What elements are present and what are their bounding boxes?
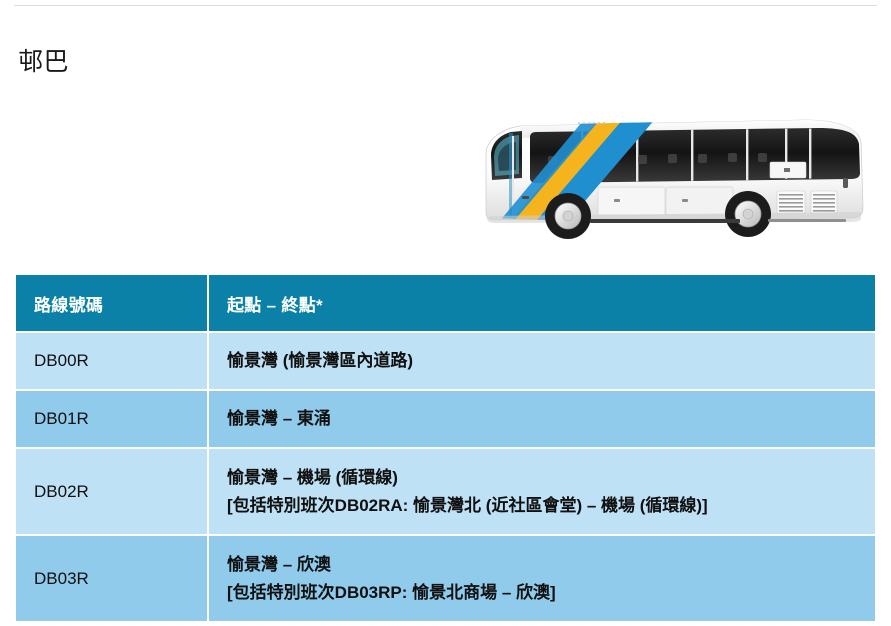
bus-illustration [478, 100, 873, 255]
destination-note-line: [包括特別班次DB02RA: 愉景灣北 (近社區會堂) – 機場 (循環線)] [227, 492, 875, 520]
destination-line: 愉景灣 (愉景灣區內道路) [227, 347, 875, 375]
route-destination-cell: 愉景灣 – 東涌 [208, 390, 875, 448]
table-row: DB01R 愉景灣 – 東涌 [16, 390, 875, 448]
table-row: DB03R 愉景灣 – 欣澳 [包括特別班次DB03RP: 愉景北商場 – 欣澳… [16, 535, 875, 621]
destination-line: 愉景灣 – 機場 (循環線) [227, 464, 875, 492]
destination-note-line: [包括特別班次DB03RP: 愉景北商場 – 欣澳] [227, 579, 875, 607]
route-destination-cell: 愉景灣 (愉景灣區內道路) [208, 332, 875, 390]
table-header-row: 路線號碼 起點 – 終點* [16, 275, 875, 332]
top-divider [14, 5, 877, 6]
route-table: 路線號碼 起點 – 終點* DB00R 愉景灣 (愉景灣區內道路) DB01R … [16, 275, 875, 621]
table-row: DB02R 愉景灣 – 機場 (循環線) [包括特別班次DB02RA: 愉景灣北… [16, 448, 875, 535]
route-destination-cell: 愉景灣 – 欣澳 [包括特別班次DB03RP: 愉景北商場 – 欣澳] [208, 535, 875, 621]
route-code-cell: DB02R [16, 448, 208, 535]
route-code-cell: DB00R [16, 332, 208, 390]
destination-line: 愉景灣 – 欣澳 [227, 551, 875, 579]
column-header-origin-destination: 起點 – 終點* [208, 275, 875, 332]
table-row: DB00R 愉景灣 (愉景灣區內道路) [16, 332, 875, 390]
destination-line: 愉景灣 – 東涌 [227, 405, 875, 433]
front-wheel [545, 193, 591, 239]
column-header-route-code: 路線號碼 [16, 275, 208, 332]
route-destination-cell: 愉景灣 – 機場 (循環線) [包括特別班次DB02RA: 愉景灣北 (近社區會… [208, 448, 875, 535]
route-code-cell: DB03R [16, 535, 208, 621]
page-title: 邨巴 [18, 45, 69, 79]
route-code-cell: DB01R [16, 390, 208, 448]
rear-wheel [725, 191, 771, 237]
bus-illustration-svg [478, 100, 873, 255]
